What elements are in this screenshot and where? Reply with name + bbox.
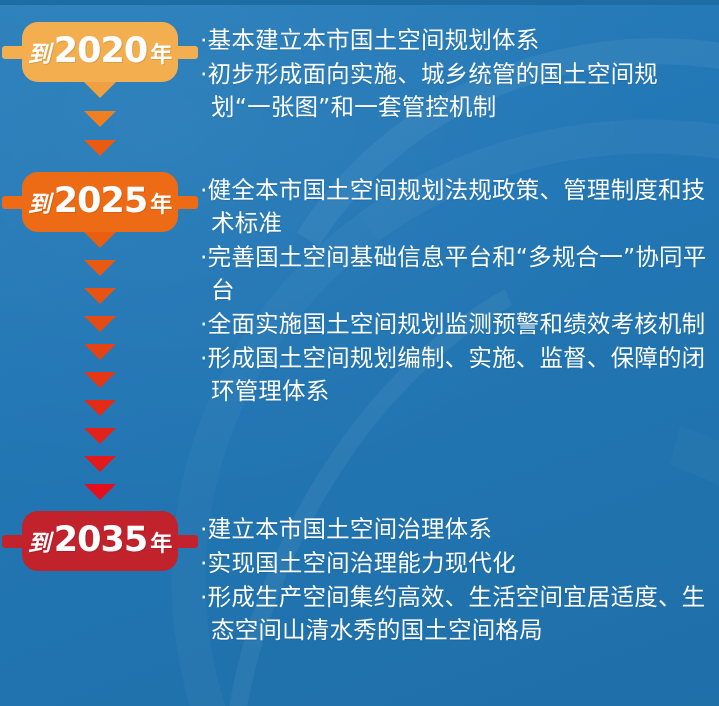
- top-edge-band: [0, 0, 719, 5]
- down-arrow-icon: [84, 316, 116, 332]
- down-arrow-icon: [84, 456, 116, 472]
- bullet-item: ·健全本市国土空间规划法规政策、管理制度和技术标准: [200, 174, 710, 240]
- connector-arrows-2025-2035: [0, 232, 200, 522]
- bullet-list-2035: ·建立本市国土空间治理体系 ·实现国土空间治理能力现代化 ·形成生产空间集约高效…: [200, 513, 710, 648]
- bullet-list-2025: ·健全本市国土空间规划法规政策、管理制度和技术标准 ·完善国土空间基础信息平台和…: [200, 174, 710, 409]
- badge-body-2020: 到 2020 年: [22, 22, 178, 82]
- connector-arrows-2020-2025: [0, 82, 200, 172]
- badge-year-2025: 2025: [54, 184, 147, 219]
- down-arrow-icon: [84, 111, 116, 127]
- bullet-list-2020: ·基本建立本市国土空间规划体系 ·初步形成面向实施、城乡统管的国土空间规划“一张…: [200, 24, 710, 125]
- badge-label-2035: 到 2035 年: [28, 523, 172, 558]
- milestone-badge-2035[interactable]: 到 2035 年: [0, 511, 200, 571]
- down-arrow-icon: [84, 344, 116, 360]
- milestone-badge-2025[interactable]: 到 2025 年: [0, 172, 200, 232]
- badge-body-2035: 到 2035 年: [22, 511, 178, 571]
- down-arrow-icon: [84, 400, 116, 416]
- bullet-item: ·形成国土空间规划编制、实施、监督、保障的闭环管理体系: [200, 342, 710, 408]
- badge-suffix-2025: 年: [150, 194, 172, 216]
- bullet-item: ·全面实施国土空间规划监测预警和绩效考核机制: [200, 308, 710, 341]
- down-arrow-icon: [84, 372, 116, 388]
- badge-prefix-2035: 到: [28, 532, 51, 555]
- badge-year-2020: 2020: [54, 34, 147, 69]
- badge-suffix-2020: 年: [150, 44, 172, 66]
- bullet-item: ·完善国土空间基础信息平台和“多规合一”协同平台: [200, 241, 710, 307]
- down-arrow-icon: [84, 260, 116, 276]
- down-arrow-icon: [84, 82, 116, 98]
- badge-year-2035: 2035: [54, 523, 147, 558]
- down-arrow-icon: [84, 288, 116, 304]
- down-arrow-icon: [84, 428, 116, 444]
- badge-prefix-2020: 到: [28, 43, 51, 66]
- bullet-item: ·初步形成面向实施、城乡统管的国土空间规划“一张图”和一套管控机制: [200, 58, 710, 124]
- bullet-item: ·基本建立本市国土空间规划体系: [200, 24, 710, 57]
- down-arrow-icon: [84, 232, 116, 248]
- down-arrow-icon: [84, 484, 116, 500]
- badge-label-2020: 到 2020 年: [28, 34, 172, 69]
- down-arrow-icon: [84, 140, 116, 156]
- badge-suffix-2035: 年: [150, 533, 172, 555]
- infographic-poster: 到 2020 年 ·基本建立本市国土空间规划体系 ·初步形成面向实施、城乡统管的…: [0, 0, 719, 706]
- bullet-item: ·实现国土空间治理能力现代化: [200, 547, 710, 580]
- bullet-item: ·形成生产空间集约高效、生活空间宜居适度、生态空间山清水秀的国土空间格局: [200, 581, 710, 647]
- badge-prefix-2025: 到: [28, 193, 51, 216]
- bullet-item: ·建立本市国土空间治理体系: [200, 513, 710, 546]
- badge-body-2025: 到 2025 年: [22, 172, 178, 232]
- milestone-badge-2020[interactable]: 到 2020 年: [0, 22, 200, 82]
- badge-label-2025: 到 2025 年: [28, 184, 172, 219]
